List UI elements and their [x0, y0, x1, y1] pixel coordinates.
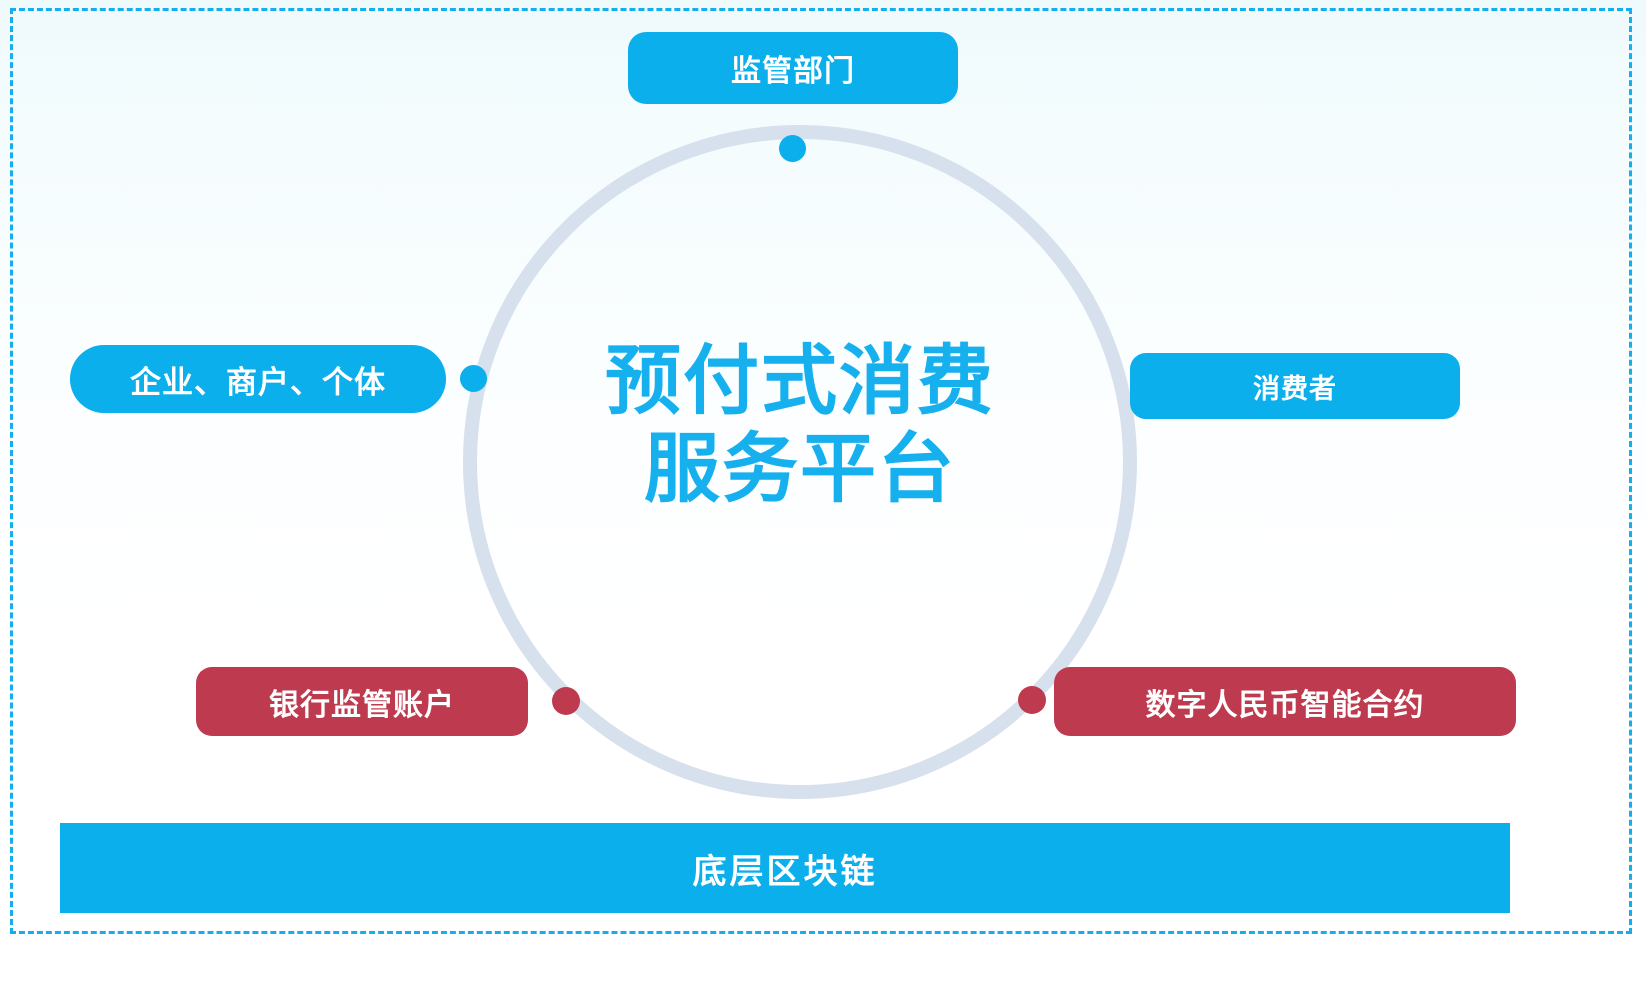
node-smart-contract-pill[interactable]: 数字人民币智能合约	[1054, 667, 1516, 736]
center-label-line-2: 服务平台	[560, 426, 1040, 514]
diagram-canvas: 预付式消费 服务平台 监管部门 企业、商户、个体 消费者 银行监管账户 数字人民…	[0, 0, 1646, 1000]
node-consumers-label: 消费者	[1253, 367, 1337, 406]
center-label-line-1: 预付式消费	[560, 338, 1040, 426]
connector-dot-top	[779, 135, 806, 162]
connector-dot-left	[460, 365, 487, 392]
foundation-blockchain-label: 底层区块链	[693, 844, 878, 893]
node-bank-account-pill[interactable]: 银行监管账户	[196, 667, 528, 736]
node-smart-contract-label: 数字人民币智能合约	[1146, 680, 1425, 724]
node-regulator-pill[interactable]: 监管部门	[628, 32, 958, 104]
connector-dot-bottom-right	[1018, 686, 1046, 714]
node-consumers-pill[interactable]: 消费者	[1130, 353, 1460, 419]
foundation-blockchain-bar[interactable]: 底层区块链	[60, 823, 1510, 913]
center-platform-label: 预付式消费 服务平台	[560, 338, 1040, 514]
node-regulator-label: 监管部门	[731, 46, 855, 90]
node-bank-account-label: 银行监管账户	[269, 680, 455, 724]
connector-dot-bottom-left	[552, 687, 580, 715]
connector-dot-right	[1141, 384, 1168, 411]
node-merchants-label: 企业、商户、个体	[130, 357, 386, 402]
node-merchants-pill[interactable]: 企业、商户、个体	[70, 345, 446, 413]
